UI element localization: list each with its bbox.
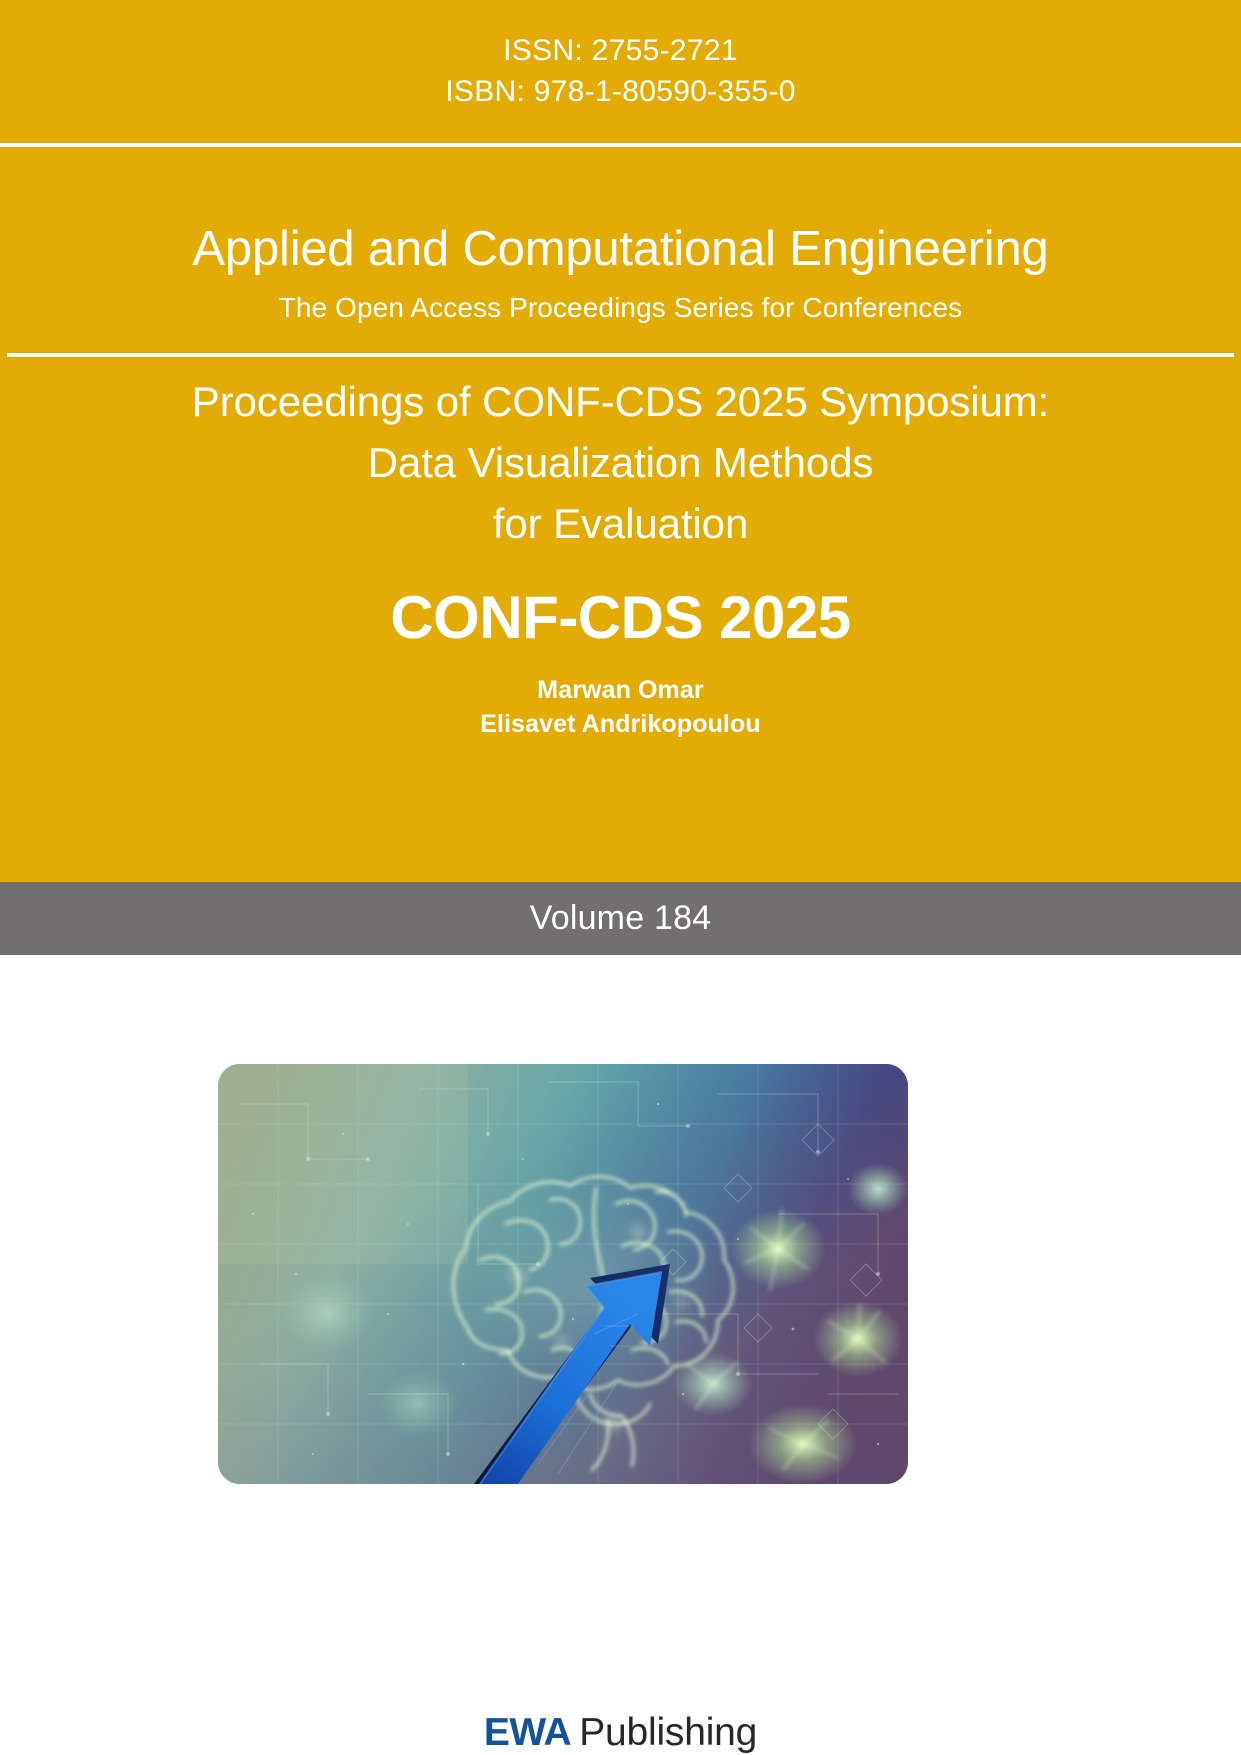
publisher-name: Publishing [571,1711,757,1754]
proceedings-title-line-2: Data Visualization Methods [0,433,1241,494]
journal-subtitle: The Open Access Proceedings Series for C… [0,277,1241,325]
proceedings-title-line-1: Proceedings of CONF-CDS 2025 Symposium: [0,372,1241,433]
journal-block: Applied and Computational Engineering Th… [0,176,1241,324]
isbn-text: ISBN: 978-1-80590-355-0 [0,71,1241,112]
issn-text: ISSN: 2755-2721 [0,30,1241,71]
identifier-block: ISSN: 2755-2721 ISBN: 978-1-80590-355-0 [0,0,1241,113]
book-cover: ISSN: 2755-2721 ISBN: 978-1-80590-355-0 … [0,0,1241,1754]
editor-list: Marwan Omar Elisavet Andrikopoulou [0,651,1241,742]
lower-panel: EWAPublishing [0,955,1241,1754]
divider-top [0,143,1241,147]
editor-name: Marwan Omar [0,673,1241,708]
journal-title: Applied and Computational Engineering [0,176,1241,277]
divider-middle [7,353,1234,357]
volume-label: Volume 184 [530,899,712,938]
proceedings-block: Proceedings of CONF-CDS 2025 Symposium: … [0,372,1241,742]
gold-header-panel: ISSN: 2755-2721 ISBN: 978-1-80590-355-0 … [0,0,1241,882]
proceedings-title-line-3: for Evaluation [0,494,1241,555]
brain-network-artwork [218,1064,908,1484]
volume-bar: Volume 184 [0,882,1241,955]
conference-name: CONF-CDS 2025 [0,555,1241,651]
publisher-brand: EWA [484,1711,571,1754]
editor-name: Elisavet Andrikopoulou [0,707,1241,742]
publisher-logo: EWAPublishing [0,1711,1241,1755]
